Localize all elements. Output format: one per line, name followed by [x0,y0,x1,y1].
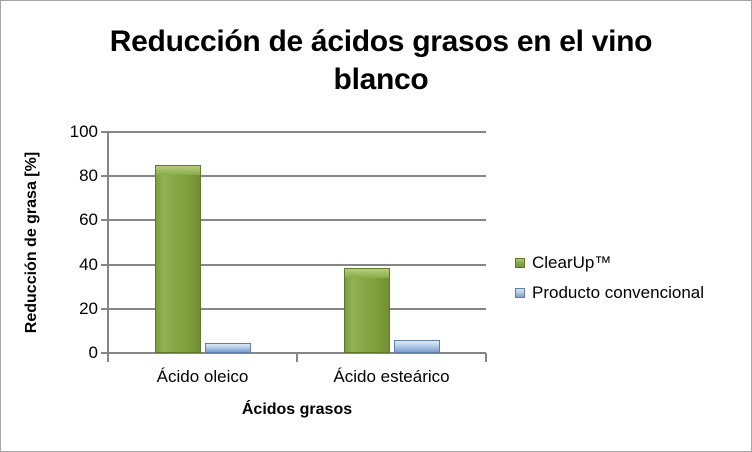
chart-container: Reducción de ácidos grasos en el vino bl… [0,0,752,452]
y-tick-label: 0 [89,343,98,363]
y-tick-mark [101,264,108,266]
bar-clearup-cat1[interactable] [155,165,201,353]
category-divider [296,353,298,362]
y-tick-mark [101,131,108,133]
y-tick-label: 20 [79,299,98,319]
y-tick-label: 40 [79,255,98,275]
category-axis-end-tick [485,353,487,362]
legend-entry-series-2[interactable]: Producto convencional [515,278,704,308]
plot-area: 020406080100 Ácido oleicoÁcido esteárico [108,132,486,353]
y-tick-mark [101,308,108,310]
category-axis-end-tick [107,353,109,362]
legend-label-series-1: ClearUp™ [532,253,611,273]
y-tick-label: 60 [79,210,98,230]
legend-entry-series-1[interactable]: ClearUp™ [515,248,704,278]
gridline [108,131,486,133]
blue-swatch-icon [515,288,525,298]
bar-conventional-cat1[interactable] [205,343,251,353]
chart-legend: ClearUp™ Producto convencional [515,248,704,308]
chart-title-line-2: blanco [334,63,429,96]
category-label: Ácido oleico [157,367,249,387]
x-axis-title: Ácidos grasos [108,401,486,419]
bar-clearup-cat2[interactable] [344,268,390,353]
y-axis-title: Reducción de grasa [%] [23,132,45,353]
chart-title: Reducción de ácidos grasos en el vino bl… [61,23,701,100]
y-tick-label: 100 [70,122,98,142]
y-tick-mark [101,219,108,221]
legend-label-series-2: Producto convencional [532,283,704,303]
green-swatch-icon [515,258,525,268]
category-label: Ácido esteárico [333,367,449,387]
y-tick-mark [101,175,108,177]
bar-conventional-cat2[interactable] [394,340,440,353]
y-tick-label: 80 [79,166,98,186]
chart-title-line-1: Reducción de ácidos grasos en el vino [110,25,652,58]
y-axis-line [107,132,109,353]
